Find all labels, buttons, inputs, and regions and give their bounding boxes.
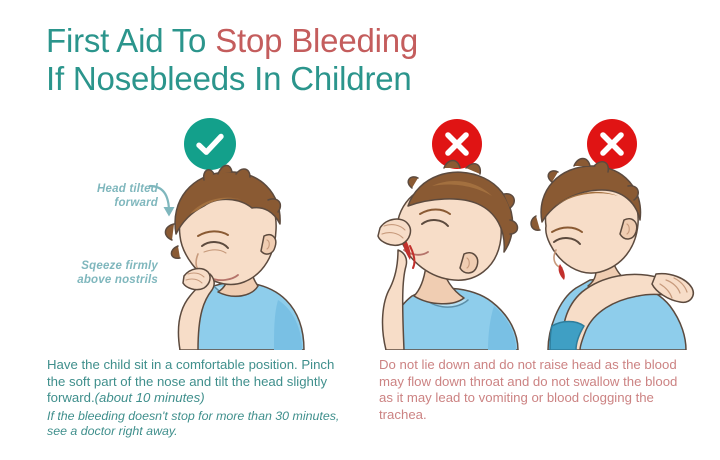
title-line-1: First Aid To Stop Bleeding: [46, 22, 676, 60]
title-line-2: If Nosebleeds In Children: [46, 60, 676, 98]
infographic-poster: First Aid To Stop Bleeding If Nosebleeds…: [0, 0, 720, 460]
instructions-incorrect: Do not lie down and do not raise head as…: [379, 357, 685, 423]
title-part-teal: First Aid To: [46, 22, 215, 59]
illustration-boy-pinching-nose-head-forward: [118, 150, 323, 350]
illustration-boy-head-tilted-back: [368, 150, 553, 350]
page-title: First Aid To Stop Bleeding If Nosebleeds…: [46, 22, 676, 98]
instructions-correct-duration: (about 10 minutes): [95, 390, 205, 405]
instructions-incorrect-main: Do not lie down and do not raise head as…: [379, 357, 677, 422]
instructions-correct-note: If the bleeding doesn't stop for more th…: [47, 409, 347, 439]
title-part-red: Stop Bleeding: [215, 22, 418, 59]
illustration-boy-head-down-on-arm: [528, 150, 713, 350]
instructions-correct: Have the child sit in a comfortable posi…: [47, 357, 347, 439]
